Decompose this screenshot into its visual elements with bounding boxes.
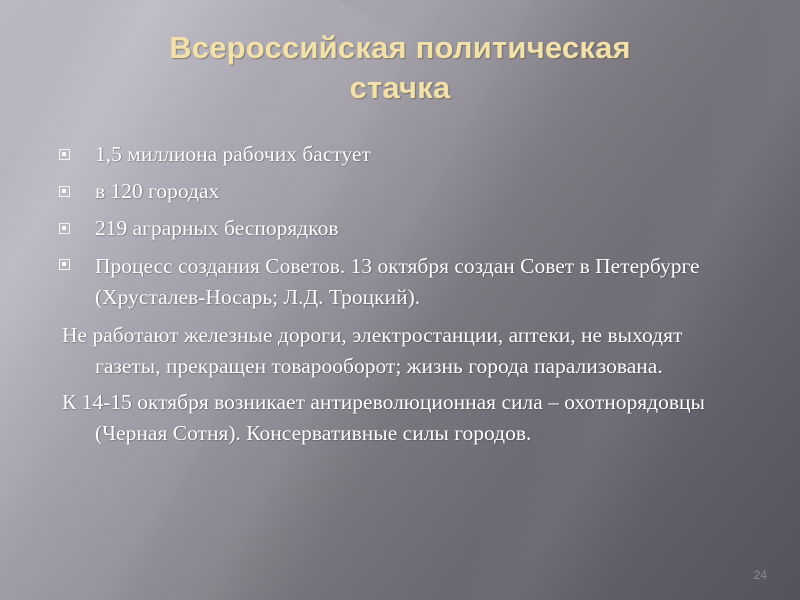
list-item: Процесс создания Советов. 13 октября соз… (0, 247, 800, 315)
list-item-label: в 120 городах (95, 179, 219, 203)
square-bullet-icon (59, 259, 70, 270)
square-bullet-icon (59, 186, 70, 197)
square-bullet-icon (59, 149, 70, 160)
slide-page-number: 24 (754, 568, 767, 582)
list-item-label: 219 аграрных беспорядков (95, 216, 338, 240)
slide-title-line-1: Всероссийская политическая (70, 28, 730, 68)
body-paragraph: Не работают железные дороги, электростан… (0, 320, 800, 382)
slide-title: Всероссийская политическая стачка (70, 28, 730, 108)
body-paragraph: К 14-15 октября возникает антиреволюцион… (0, 387, 800, 449)
presentation-slide: Всероссийская политическая стачка 1,5 ми… (0, 0, 800, 600)
slide-body: 1,5 миллиона рабочих бастует в 120 город… (0, 136, 800, 449)
square-bullet-icon (59, 223, 70, 234)
list-item: 219 аграрных беспорядков (0, 210, 800, 247)
slide-title-line-2: стачка (70, 68, 730, 108)
list-item-label: 1,5 миллиона рабочих бастует (95, 142, 371, 166)
list-item-label: Процесс создания Советов. 13 октября соз… (95, 254, 700, 309)
list-item: в 120 городах (0, 173, 800, 210)
list-item: 1,5 миллиона рабочих бастует (0, 136, 800, 173)
